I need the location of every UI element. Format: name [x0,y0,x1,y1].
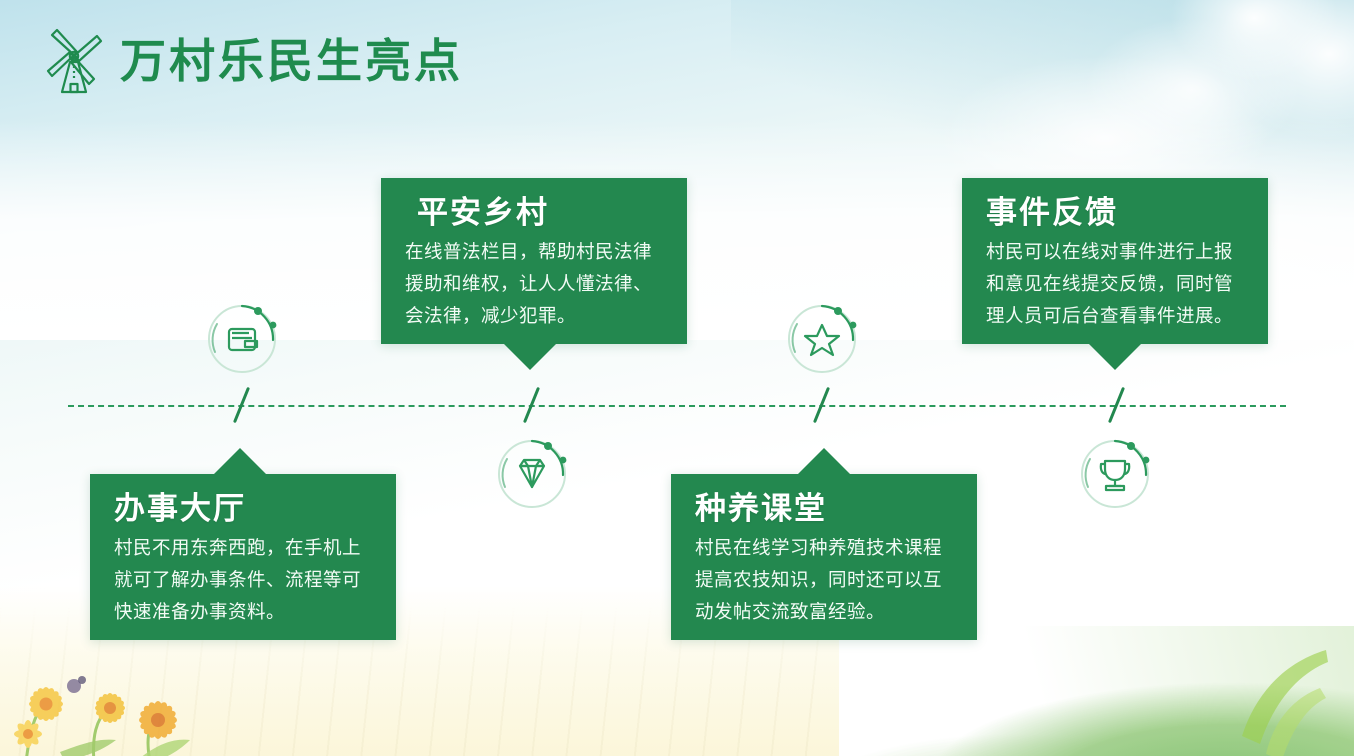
card-body: 在线普法栏目，帮助村民法律援助和维权，让人人懂法律、会法律，减少犯罪。 [405,236,663,331]
card-title: 平安乡村 [417,194,663,232]
medallion-star[interactable] [783,300,861,378]
card-shijian-fankui[interactable]: 事件反馈 村民可以在线对事件进行上报和意见在线提交反馈，同时管理人员可后台查看事… [962,178,1268,344]
medallion-wallet[interactable] [203,300,281,378]
page-header: 万村乐民生亮点 [44,28,463,94]
medallion-diamond[interactable] [493,435,571,513]
star-icon [783,300,861,378]
card-title: 种养课堂 [695,490,953,528]
timeline-dashed-line [68,405,1286,409]
slide-canvas: 万村乐民生亮点 [0,0,1354,756]
card-body: 村民不用东奔西跑，在手机上就可了解办事条件、流程等可快速准备办事资料。 [114,532,372,627]
page-title: 万村乐民生亮点 [120,38,463,84]
card-tail [504,344,556,370]
medallion-trophy[interactable] [1076,435,1154,513]
card-body: 村民在线学习种养殖技术课程提高农技知识，同时还可以互动发帖交流致富经验。 [695,532,953,627]
card-pingan-xiangcun[interactable]: 平安乡村 在线普法栏目，帮助村民法律援助和维权，让人人懂法律、会法律，减少犯罪。 [381,178,687,344]
card-tail [798,448,850,474]
trophy-icon [1076,435,1154,513]
wallet-icon [203,300,281,378]
card-tail [1089,344,1141,370]
leaf-decoration-icon [1208,644,1328,756]
card-tail [214,448,266,474]
card-zhongyang-ketang[interactable]: 种养课堂 村民在线学习种养殖技术课程提高农技知识，同时还可以互动发帖交流致富经验… [671,474,977,640]
card-title: 办事大厅 [114,490,372,528]
card-banshi-datang[interactable]: 办事大厅 村民不用东奔西跑，在手机上就可了解办事条件、流程等可快速准备办事资料。 [90,474,396,640]
windmill-icon [44,28,104,94]
diamond-icon [493,435,571,513]
card-body: 村民可以在线对事件进行上报和意见在线提交反馈，同时管理人员可后台查看事件进展。 [986,236,1244,331]
card-title: 事件反馈 [986,194,1244,232]
